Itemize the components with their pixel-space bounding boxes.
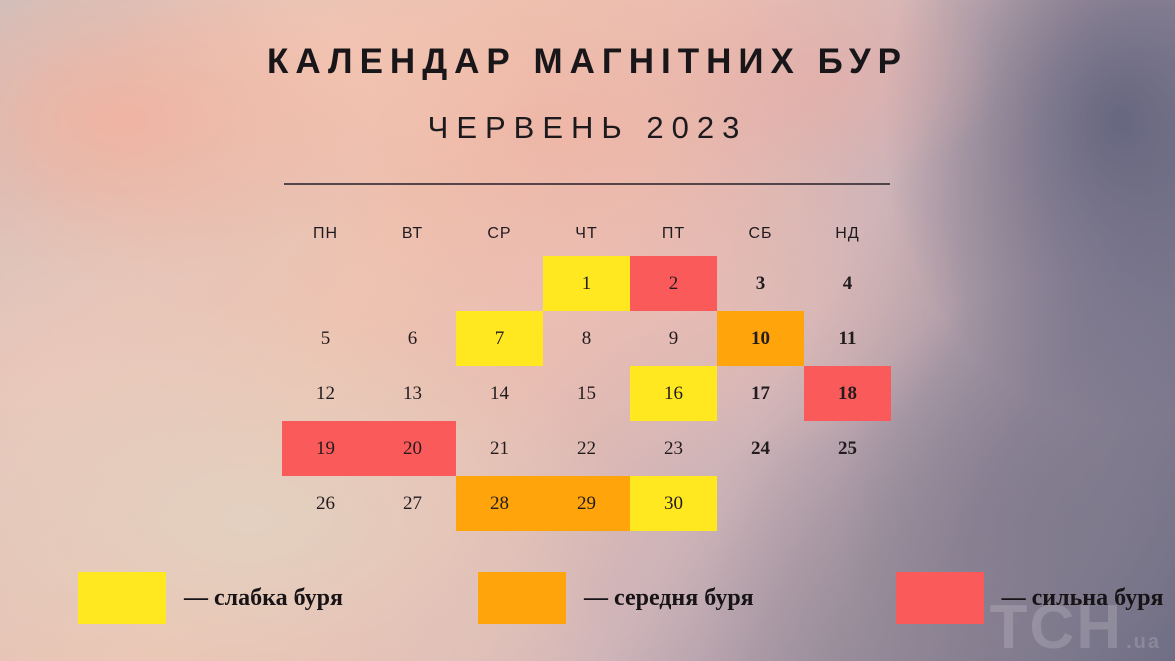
day-number: 1 [582, 273, 592, 295]
header-divider [284, 183, 890, 185]
weekday-header-ср: СР [456, 212, 543, 256]
weekday-header-пт: ПТ [630, 212, 717, 256]
day-number: 6 [408, 328, 418, 350]
page-title: КАЛЕНДАР МАГНІТНИХ БУР [0, 42, 1175, 82]
calendar-day-6[interactable]: 6 [369, 311, 456, 366]
weekday-header-вт: ВТ [369, 212, 456, 256]
legend-item-weak: — слабка буря [78, 572, 343, 624]
calendar-day-30[interactable]: 30 [630, 476, 717, 531]
calendar-day-23[interactable]: 23 [630, 421, 717, 476]
day-number: 2 [669, 273, 679, 295]
day-number: 25 [838, 438, 857, 460]
legend-label-strong: — сильна буря [1002, 585, 1164, 612]
day-number: 15 [577, 383, 596, 405]
day-number: 14 [490, 383, 509, 405]
legend-swatch-weak [78, 572, 166, 624]
day-number: 23 [664, 438, 683, 460]
calendar-day-19[interactable]: 19 [282, 421, 369, 476]
calendar-day-18[interactable]: 18 [804, 366, 891, 421]
calendar-day-3[interactable]: 3 [717, 256, 804, 311]
day-number: 16 [664, 383, 683, 405]
day-number: 18 [838, 383, 857, 405]
calendar-day-15[interactable]: 15 [543, 366, 630, 421]
calendar-day-4[interactable]: 4 [804, 256, 891, 311]
calendar-day-12[interactable]: 12 [282, 366, 369, 421]
day-number: 13 [403, 383, 422, 405]
day-number: 4 [843, 273, 853, 295]
day-number: 11 [839, 328, 857, 350]
weekday-header-чт: ЧТ [543, 212, 630, 256]
calendar-day-8[interactable]: 8 [543, 311, 630, 366]
day-number: 30 [664, 493, 683, 515]
calendar-day-21[interactable]: 21 [456, 421, 543, 476]
calendar-day-26[interactable]: 26 [282, 476, 369, 531]
legend-swatch-strong [896, 572, 984, 624]
day-number: 10 [751, 328, 770, 350]
day-number: 8 [582, 328, 592, 350]
calendar-day-10[interactable]: 10 [717, 311, 804, 366]
calendar-day-2[interactable]: 2 [630, 256, 717, 311]
day-number: 9 [669, 328, 679, 350]
day-number: 7 [495, 328, 505, 350]
day-number: 28 [490, 493, 509, 515]
calendar-day-28[interactable]: 28 [456, 476, 543, 531]
calendar-day-1[interactable]: 1 [543, 256, 630, 311]
calendar-day-20[interactable]: 20 [369, 421, 456, 476]
day-number: 29 [577, 493, 596, 515]
calendar-day-7[interactable]: 7 [456, 311, 543, 366]
calendar-grid: ПНВТСРЧТПТСБНД 1234567891011121314151617… [282, 212, 891, 531]
day-number: 27 [403, 493, 422, 515]
calendar-day-25[interactable]: 25 [804, 421, 891, 476]
legend-swatch-medium [478, 572, 566, 624]
calendar-day-11[interactable]: 11 [804, 311, 891, 366]
day-number: 5 [321, 328, 331, 350]
legend-label-weak: — слабка буря [184, 585, 343, 612]
calendar-day-27[interactable]: 27 [369, 476, 456, 531]
legend-label-medium: — середня буря [584, 585, 754, 612]
calendar-blank-cell [456, 256, 543, 311]
calendar-blank-cell [369, 256, 456, 311]
day-number: 20 [403, 438, 422, 460]
calendar-day-17[interactable]: 17 [717, 366, 804, 421]
calendar-day-29[interactable]: 29 [543, 476, 630, 531]
day-number: 21 [490, 438, 509, 460]
calendar-blank-cell [282, 256, 369, 311]
weekday-header-пн: ПН [282, 212, 369, 256]
weekday-header-нд: НД [804, 212, 891, 256]
calendar-day-13[interactable]: 13 [369, 366, 456, 421]
legend-item-medium: — середня буря [478, 572, 754, 624]
content-root: КАЛЕНДАР МАГНІТНИХ БУР ЧЕРВЕНЬ 2023 ПНВТ… [0, 0, 1175, 661]
day-number: 3 [756, 273, 766, 295]
calendar-weekday-header-row: ПНВТСРЧТПТСБНД [282, 212, 891, 256]
legend: — слабка буря— середня буря— сильна буря [0, 572, 1175, 624]
day-number: 12 [316, 383, 335, 405]
calendar-day-16[interactable]: 16 [630, 366, 717, 421]
calendar-day-cells: 1234567891011121314151617181920212223242… [282, 256, 891, 531]
day-number: 17 [751, 383, 770, 405]
day-number: 22 [577, 438, 596, 460]
calendar-day-22[interactable]: 22 [543, 421, 630, 476]
calendar-day-5[interactable]: 5 [282, 311, 369, 366]
day-number: 26 [316, 493, 335, 515]
day-number: 24 [751, 438, 770, 460]
legend-item-strong: — сильна буря [896, 572, 1164, 624]
calendar-day-14[interactable]: 14 [456, 366, 543, 421]
day-number: 19 [316, 438, 335, 460]
weekday-header-сб: СБ [717, 212, 804, 256]
calendar-day-24[interactable]: 24 [717, 421, 804, 476]
calendar-infographic: ТСН .ua КАЛЕНДАР МАГНІТНИХ БУР ЧЕРВЕНЬ 2… [0, 0, 1175, 661]
calendar-day-9[interactable]: 9 [630, 311, 717, 366]
page-subtitle-month-year: ЧЕРВЕНЬ 2023 [0, 110, 1175, 146]
